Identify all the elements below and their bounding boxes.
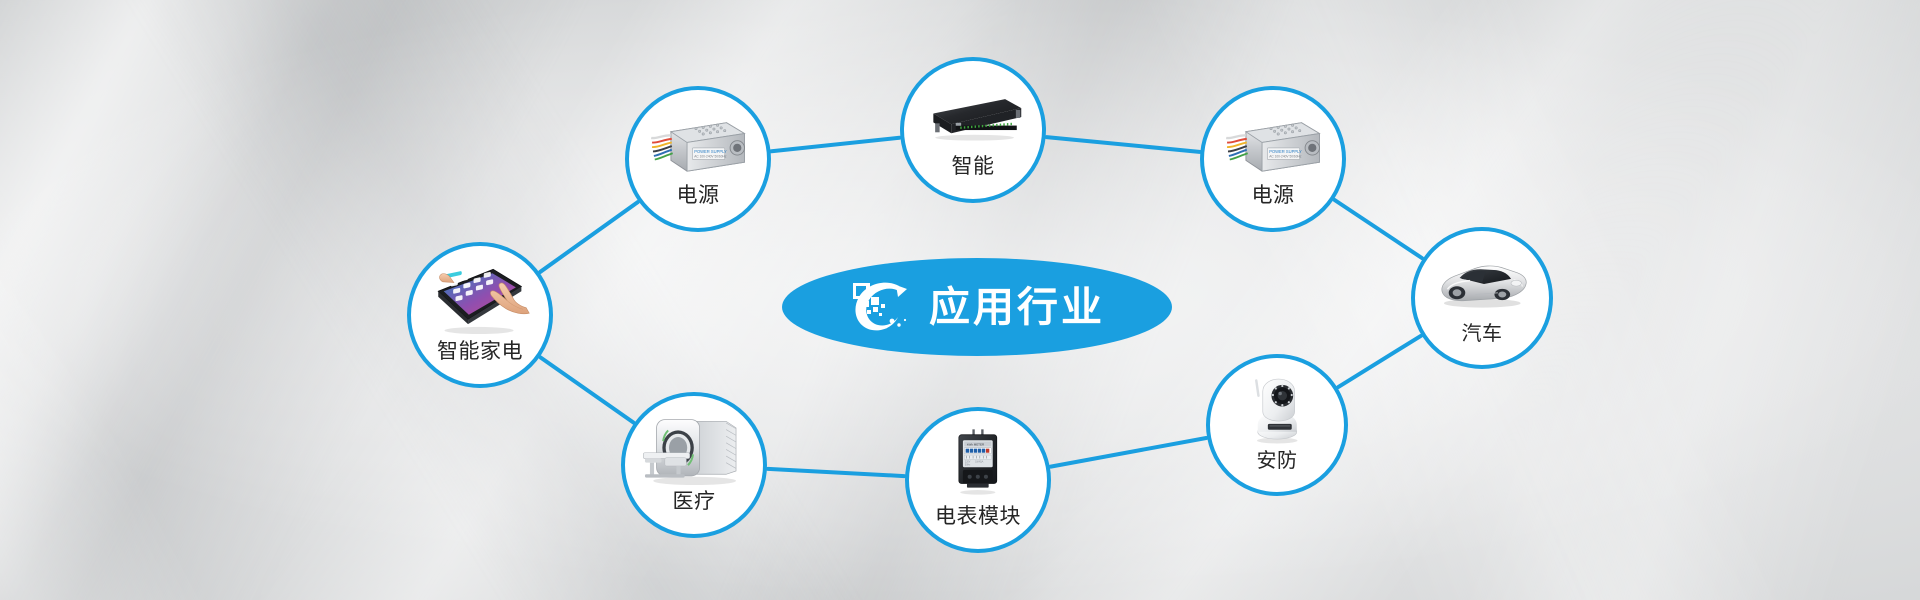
- banner-title: 应用行业: [929, 287, 1105, 328]
- node-power-supply-right[interactable]: POWER SUPPLY AC 100-240V 50/60Hz 电源: [1200, 86, 1346, 232]
- node-label-meter-module: 电表模块: [935, 506, 1021, 527]
- atx-power-supply-icon: POWER SUPPLY AC 100-240V 50/60Hz: [644, 107, 752, 182]
- connector-security-to-meter-module: [1051, 438, 1206, 467]
- svg-text:AC 100-240V 50/60Hz: AC 100-240V 50/60Hz: [1269, 154, 1302, 158]
- svg-text:10(40)A: 10(40)A: [975, 460, 984, 463]
- atx-power-supply-icon: POWER SUPPLY AC 100-240V 50/60Hz: [1219, 107, 1327, 182]
- node-power-supply-left[interactable]: POWER SUPPLY AC 100-240V 50/60Hz 电源: [625, 86, 771, 232]
- node-smart[interactable]: 智能: [900, 57, 1046, 203]
- connector-meter-module-to-medical: [768, 469, 904, 476]
- node-label-security: 安防: [1257, 450, 1298, 470]
- node-label-power-supply-left: 电源: [677, 185, 720, 206]
- application-industries-infographic: POWER SUPPLY AC 100-240V 50/60Hz 电源: [0, 0, 1920, 600]
- node-label-smart: 智能: [952, 156, 995, 177]
- sports-car-icon: [1430, 247, 1535, 319]
- svg-text:POWER SUPPLY: POWER SUPPLY: [1269, 149, 1302, 154]
- ip-security-camera-icon: [1225, 374, 1330, 446]
- tablet-touch-hand-icon: [426, 263, 534, 338]
- connector-power-supply-left-to-smart: [772, 138, 900, 151]
- svg-text:50Hz: 50Hz: [965, 464, 971, 466]
- svg-text:POWER SUPPLY: POWER SUPPLY: [694, 149, 727, 154]
- node-label-smart-appliance: 智能家电: [437, 341, 523, 362]
- node-automotive[interactable]: 汽车: [1411, 227, 1553, 369]
- connector-power-supply-right-to-automotive: [1335, 200, 1422, 258]
- connector-automotive-to-security: [1338, 336, 1421, 387]
- rack-server-icon: [919, 78, 1027, 153]
- svg-text:AC 100-240V 50/60Hz: AC 100-240V 50/60Hz: [694, 154, 727, 158]
- node-label-power-supply-right: 电源: [1252, 185, 1295, 206]
- center-banner: 应用行业: [782, 258, 1172, 356]
- node-medical[interactable]: 医疗: [621, 392, 767, 538]
- svg-text:220V: 220V: [965, 461, 971, 463]
- node-label-automotive: 汽车: [1462, 323, 1503, 343]
- pixel-orbit-swoosh-logo-icon: [849, 277, 915, 337]
- node-smart-appliance[interactable]: 智能家电: [407, 242, 553, 388]
- connector-smart-appliance-to-power-supply-left: [540, 202, 638, 272]
- ct-mri-scanner-icon: [640, 413, 748, 488]
- electricity-meter-icon: kWh METER 220V10(40)A50Hz: [924, 428, 1032, 503]
- connector-medical-to-smart-appliance: [541, 357, 634, 422]
- connector-smart-to-power-supply-right: [1047, 137, 1200, 152]
- node-label-medical: 医疗: [673, 491, 716, 512]
- svg-text:kWh METER: kWh METER: [967, 442, 984, 446]
- node-security[interactable]: 安防: [1206, 354, 1348, 496]
- node-meter-module[interactable]: kWh METER 220V10(40)A50Hz: [905, 407, 1051, 553]
